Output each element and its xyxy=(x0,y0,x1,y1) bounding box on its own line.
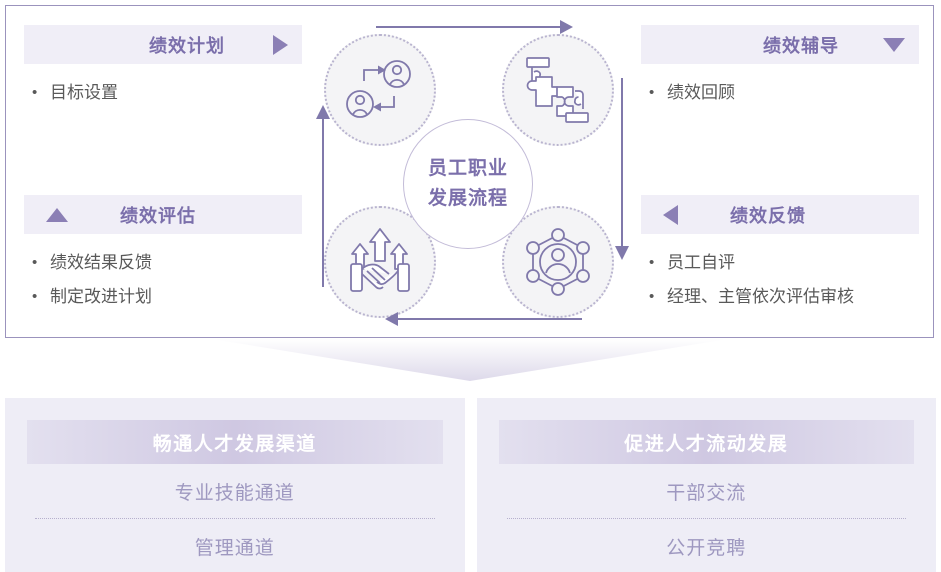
chevron-down-connector xyxy=(212,339,728,381)
list-item-label: 绩效回顾 xyxy=(667,76,735,110)
card-item-label: 干部交流 xyxy=(666,478,746,505)
cycle-node-onboarding[interactable] xyxy=(502,34,614,146)
bullet-dot-icon: • xyxy=(24,246,50,280)
bullet-list-performance-assessment: • 绩效结果反馈 • 制定改进计划 xyxy=(24,246,302,314)
quadrant-header-performance-feedback[interactable]: 绩效反馈 xyxy=(641,195,919,234)
arrow-down-icon xyxy=(611,76,633,261)
list-item: • 绩效结果反馈 xyxy=(24,246,302,280)
quadrant-performance-plan: 绩效计划 • 目标设置 xyxy=(24,25,302,110)
quadrant-header-performance-coaching[interactable]: 绩效辅导 xyxy=(641,25,919,64)
arrow-left-icon xyxy=(384,308,584,330)
talent-cards-row: 畅通人才发展渠道 专业技能通道 管理通道 促进人才流动发展 干部交流 公开竞聘 xyxy=(5,398,936,572)
triangle-left-icon xyxy=(663,205,678,225)
card-header-talent-development-channel: 畅通人才发展渠道 xyxy=(27,420,443,464)
quadrant-title-performance-coaching: 绩效辅导 xyxy=(763,32,839,58)
card-item[interactable]: 专业技能通道 xyxy=(5,464,465,518)
triangle-down-icon xyxy=(883,38,905,52)
quadrant-performance-coaching: 绩效辅导 • 绩效回顾 xyxy=(641,25,919,110)
card-item-label: 专业技能通道 xyxy=(175,478,295,505)
people-exchange-icon xyxy=(342,59,418,121)
triangle-up-icon xyxy=(46,208,68,222)
hands-puzzle-icon xyxy=(521,55,595,125)
list-item-label: 员工自评 xyxy=(667,246,735,280)
quadrant-title-performance-assessment: 绩效评估 xyxy=(120,202,196,228)
list-item: • 绩效回顾 xyxy=(641,76,919,110)
quadrant-header-performance-plan[interactable]: 绩效计划 xyxy=(24,25,302,64)
card-header-label: 促进人才流动发展 xyxy=(624,429,788,456)
bullet-dot-icon: • xyxy=(24,280,50,314)
list-item-label: 目标设置 xyxy=(50,76,118,110)
list-item-label: 绩效结果反馈 xyxy=(50,246,152,280)
bullet-list-performance-plan: • 目标设置 xyxy=(24,76,302,110)
employee-career-cycle-diagram: 员工职业 发展流程 xyxy=(306,16,651,336)
cycle-hub: 员工职业 发展流程 xyxy=(403,119,533,249)
bullet-dot-icon: • xyxy=(24,76,50,110)
cycle-node-recruitment[interactable] xyxy=(324,34,436,146)
quadrant-performance-feedback: 绩效反馈 • 员工自评 • 经理、主管依次评估审核 xyxy=(641,195,919,314)
arrow-up-icon xyxy=(312,104,334,289)
bullet-list-performance-coaching: • 绩效回顾 xyxy=(641,76,919,110)
quadrant-title-performance-plan: 绩效计划 xyxy=(149,32,225,58)
card-item[interactable]: 干部交流 xyxy=(477,464,937,518)
list-item-label: 制定改进计划 xyxy=(50,280,152,314)
card-item-label: 管理通道 xyxy=(195,533,275,560)
card-talent-mobility: 促进人才流动发展 干部交流 公开竞聘 xyxy=(477,398,937,572)
cycle-hub-line-2: 发展流程 xyxy=(428,184,508,214)
quadrant-performance-assessment: 绩效评估 • 绩效结果反馈 • 制定改进计划 xyxy=(24,195,302,314)
card-header-talent-mobility: 促进人才流动发展 xyxy=(499,420,915,464)
card-item[interactable]: 公开竞聘 xyxy=(477,519,937,572)
list-item: • 制定改进计划 xyxy=(24,280,302,314)
list-item: • 目标设置 xyxy=(24,76,302,110)
person-network-icon xyxy=(520,226,596,298)
card-item[interactable]: 管理通道 xyxy=(5,519,465,572)
performance-cycle-panel: 绩效计划 • 目标设置 绩效辅导 • 绩效回顾 绩效评估 xyxy=(5,5,934,338)
card-item-label: 公开竞聘 xyxy=(666,533,746,560)
quadrant-title-performance-feedback: 绩效反馈 xyxy=(730,202,806,228)
arrow-right-icon xyxy=(374,16,574,38)
bullet-list-performance-feedback: • 员工自评 • 经理、主管依次评估审核 xyxy=(641,246,919,314)
list-item: • 员工自评 xyxy=(641,246,919,280)
triangle-right-icon xyxy=(273,35,288,55)
cycle-hub-line-1: 员工职业 xyxy=(428,154,508,184)
handshake-growth-icon xyxy=(342,227,418,297)
card-talent-development-channel: 畅通人才发展渠道 专业技能通道 管理通道 xyxy=(5,398,465,572)
list-item-label: 经理、主管依次评估审核 xyxy=(667,280,854,314)
list-item: • 经理、主管依次评估审核 xyxy=(641,280,919,314)
card-header-label: 畅通人才发展渠道 xyxy=(153,429,317,456)
quadrant-header-performance-assessment[interactable]: 绩效评估 xyxy=(24,195,302,234)
